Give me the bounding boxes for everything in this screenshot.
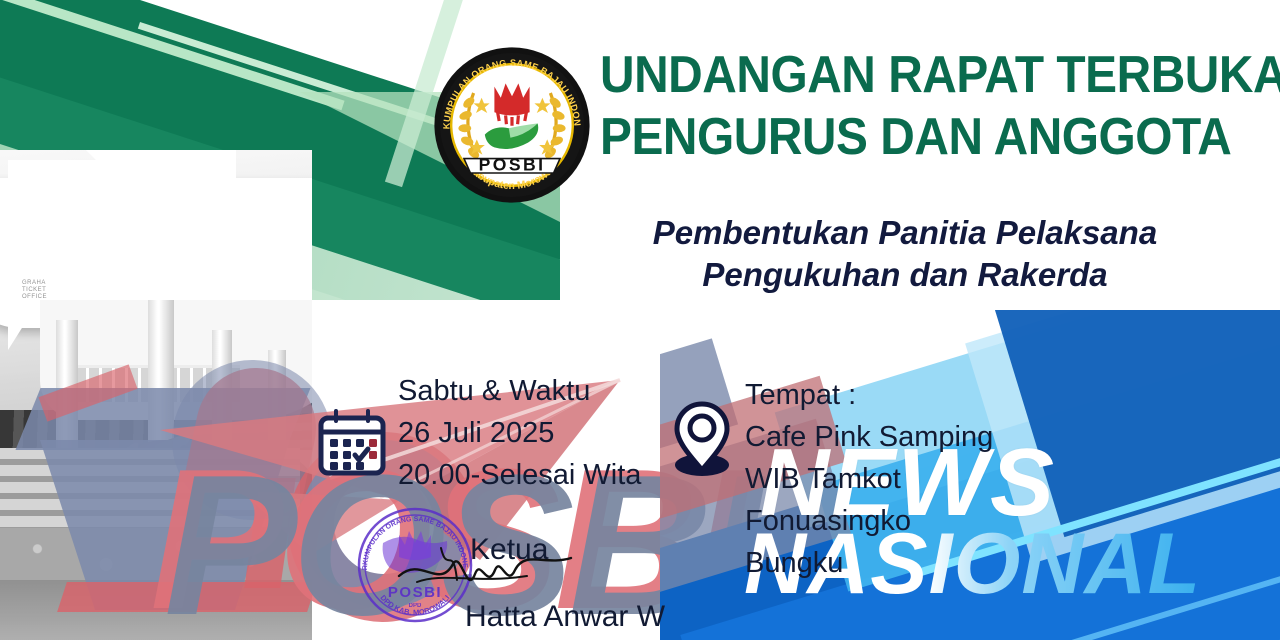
page-title: UNDANGAN RAPAT TERBUKA PENGURUS DAN ANGG… <box>600 44 1170 168</box>
signature-name: Hatta Anwar W <box>465 600 665 634</box>
building-photo: GRAHATICKETOFFICE <box>0 150 312 640</box>
venue-line-3: Fonuasingko <box>745 500 993 542</box>
venue-line-4: Bungku <box>745 542 993 584</box>
venue-line-2: WIB Tamkot <box>745 458 993 500</box>
schedule-time: 20.00-Selesai Wita <box>398 454 641 496</box>
signature-role: Ketua <box>470 533 548 567</box>
photo-fine-print: GRAHATICKETOFFICE <box>22 280 92 301</box>
venue-line-1: Cafe Pink Samping <box>745 416 993 458</box>
venue-label: Tempat : <box>745 374 993 416</box>
logo-banner-text: POSBI <box>479 155 546 175</box>
title-line-2: PENGURUS DAN ANGGOTA <box>600 106 1170 168</box>
subtitle-line-2: Pengukuhan dan Rakerda <box>585 254 1225 296</box>
location-pin-icon <box>668 398 736 478</box>
posbi-logo: PERKUMPULAN ORANG SAME BAJAU INDONESIA K… <box>432 45 592 205</box>
subtitle-line-1: Pembentukan Panitia Pelaksana <box>585 212 1225 254</box>
calendar-icon <box>316 408 388 478</box>
schedule-label: Sabtu & Waktu <box>398 370 641 412</box>
page-subtitle: Pembentukan Panitia Pelaksana Pengukuhan… <box>585 212 1225 296</box>
venue-block: Tempat : Cafe Pink Samping WIB Tamkot Fo… <box>745 374 993 584</box>
schedule-block: Sabtu & Waktu 26 Juli 2025 20.00-Selesai… <box>398 370 641 496</box>
title-line-1: UNDANGAN RAPAT TERBUKA <box>600 44 1170 106</box>
schedule-date: 26 Juli 2025 <box>398 412 641 454</box>
poster-canvas: GRAHATICKETOFFICE <box>0 0 1280 640</box>
